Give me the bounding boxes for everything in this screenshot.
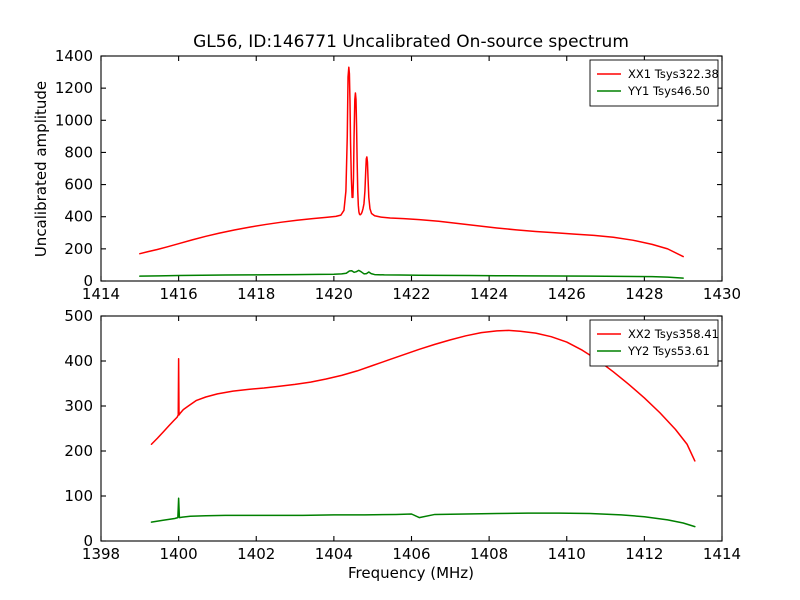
y-tick-label: 200 <box>64 240 93 258</box>
x-tick-label: 1414 <box>703 545 741 563</box>
y-tick-label: 1400 <box>55 47 93 65</box>
legend-label-0: XX1 Tsys322.38 <box>628 67 719 81</box>
x-tick-label: 1426 <box>548 285 586 303</box>
y-tick-label: 400 <box>64 352 93 370</box>
x-tick-label: 1420 <box>315 285 353 303</box>
y-tick-label: 1200 <box>55 79 93 97</box>
x-tick-label: 1404 <box>315 545 353 563</box>
y-tick-label: 0 <box>83 272 93 290</box>
x-tick-label: 1410 <box>548 545 586 563</box>
x-tick-label: 1422 <box>392 285 430 303</box>
x-tick-label: 1412 <box>625 545 663 563</box>
y-tick-label: 0 <box>83 532 93 550</box>
y-tick-label: 1000 <box>55 111 93 129</box>
y-tick-label: 500 <box>64 307 93 325</box>
x-tick-label: 1424 <box>470 285 508 303</box>
y-tick-label: 100 <box>64 487 93 505</box>
legend-label-0: XX2 Tsys358.41 <box>628 327 719 341</box>
spectrum-plot-canvas: GL56, ID:146771 Uncalibrated On-source s… <box>0 0 800 600</box>
x-tick-label: 1416 <box>160 285 198 303</box>
x-tick-label: 1408 <box>470 545 508 563</box>
legend-label-1: YY2 Tsys53.61 <box>627 344 710 358</box>
x-tick-label: 1428 <box>625 285 663 303</box>
x-tick-label: 1402 <box>237 545 275 563</box>
x-axis-label-bottom: Frequency (MHz) <box>348 564 474 582</box>
x-tick-label: 1400 <box>160 545 198 563</box>
x-tick-label: 1430 <box>703 285 741 303</box>
y-tick-label: 200 <box>64 442 93 460</box>
legend-label-1: YY1 Tsys46.50 <box>627 84 710 98</box>
y-tick-label: 600 <box>64 176 93 194</box>
y-tick-label: 800 <box>64 143 93 161</box>
page-title: GL56, ID:146771 Uncalibrated On-source s… <box>193 32 629 52</box>
x-tick-label: 1406 <box>392 545 430 563</box>
y-tick-label: 400 <box>64 208 93 226</box>
x-tick-label: 1418 <box>237 285 275 303</box>
y-axis-label-top: Uncalibrated amplitude <box>32 81 50 257</box>
y-tick-label: 300 <box>64 397 93 415</box>
matplotlib-figure: GL56, ID:146771 Uncalibrated On-source s… <box>0 0 800 600</box>
